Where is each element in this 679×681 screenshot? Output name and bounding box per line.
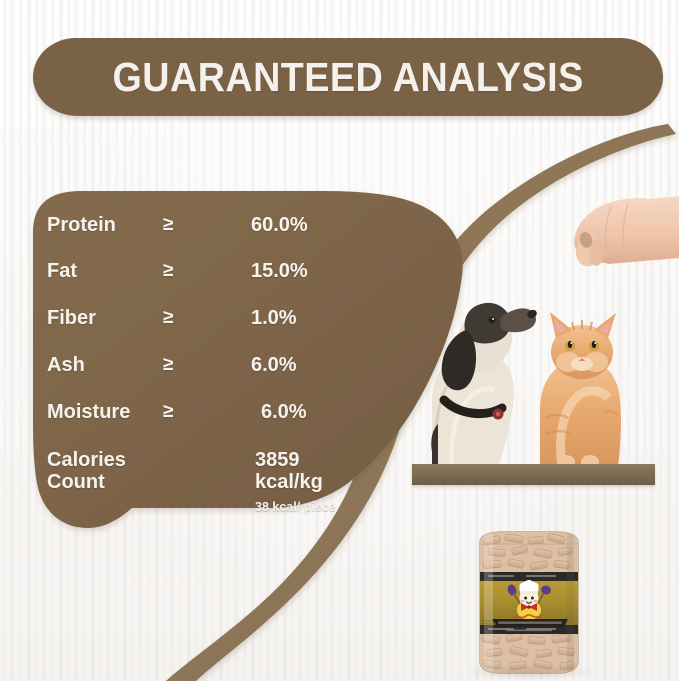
dog-looking-up-icon xyxy=(431,303,538,466)
wooden-shelf xyxy=(412,464,655,485)
jar-shadow xyxy=(462,664,596,680)
product-infographic: GUARANTEED ANALYSIS Protein xyxy=(0,0,679,681)
orange-cat-looking-up-icon xyxy=(540,312,621,469)
hand-holding-treat-icon xyxy=(574,196,679,266)
jar-illustration xyxy=(470,528,588,676)
product-jar xyxy=(470,528,588,676)
